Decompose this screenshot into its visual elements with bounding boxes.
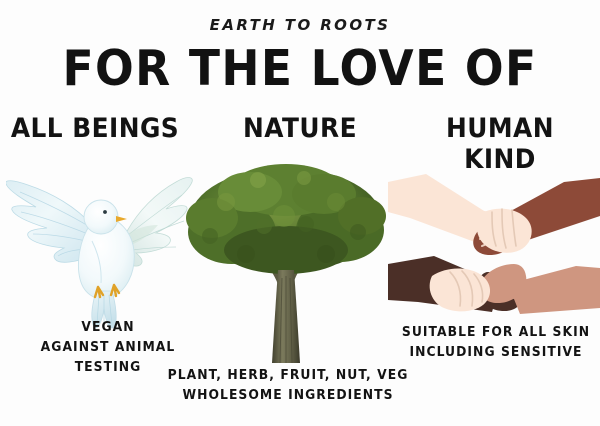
caption-line: PLANT, HERB, FRUIT, NUT, VEG	[165, 366, 412, 386]
column-heading-all-beings: ALL BEINGS	[8, 113, 183, 144]
page-title: FOR THE LOVE OF	[21, 44, 579, 93]
tree-icon	[186, 158, 386, 363]
caption-nature: PLANT, HERB, FRUIT, NUT, VEG WHOLESOME I…	[165, 366, 412, 406]
interlocking-arms-icon	[388, 172, 600, 317]
caption-line: SUITABLE FOR ALL SKIN	[397, 323, 595, 343]
column-heading-human-kind: HUMAN KIND	[408, 113, 592, 175]
caption-line: WHOLESOME INGREDIENTS	[165, 386, 412, 406]
brand-kicker: EARTH TO ROOTS	[0, 16, 600, 34]
caption-human-kind: SUITABLE FOR ALL SKIN INCLUDING SENSITIV…	[397, 323, 595, 363]
dove-icon	[6, 155, 196, 330]
caption-line: INCLUDING SENSITIVE	[397, 343, 595, 363]
caption-line: AGAINST ANIMAL	[13, 338, 203, 358]
caption-line: VEGAN	[13, 318, 203, 338]
column-heading-nature: NATURE	[213, 113, 388, 144]
poster-canvas: EARTH TO ROOTS FOR THE LOVE OF ALL BEING…	[0, 0, 600, 426]
